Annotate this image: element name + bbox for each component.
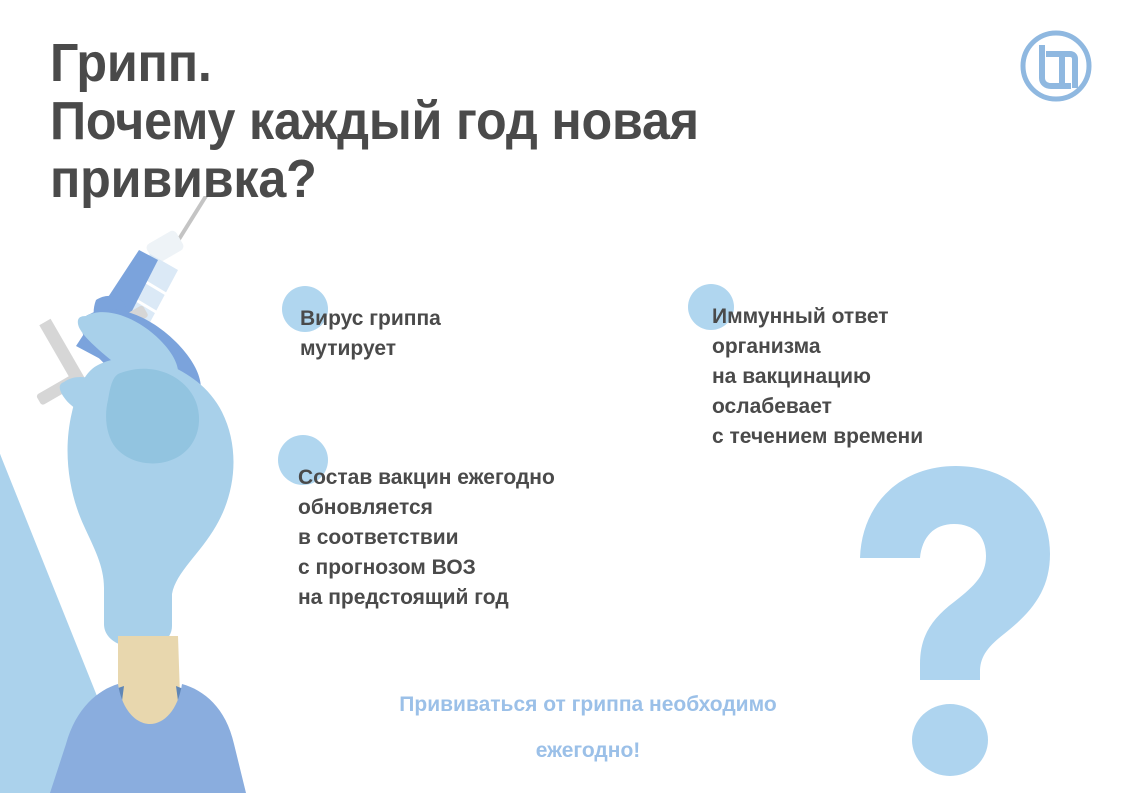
question-mark-hook (860, 466, 1050, 680)
bullet-text-virus: Вирус гриппа мутирует (282, 286, 441, 364)
title-line-1: Грипп. (50, 34, 868, 92)
title-line-2: Почему каждый год новая (50, 92, 868, 150)
footer-call-to-action: Прививаться от гриппа необходимо ежегодн… (258, 682, 918, 774)
gloved-hand-holding-syringe-illustration (0, 196, 300, 793)
bullet-item-immunity: Иммунный ответ организма на вакцинацию о… (688, 284, 923, 452)
bullet-item-virus: Вирус гриппа мутирует (282, 286, 441, 364)
bullet-text-composition: Состав вакцин ежегодно обновляется в соо… (278, 435, 555, 613)
page-title: Грипп. Почему каждый год новая прививка? (50, 34, 930, 208)
circular-monogram-logo-icon (1018, 28, 1094, 104)
bullet-text-immunity: Иммунный ответ организма на вакцинацию о… (688, 284, 923, 452)
question-mark-dot (912, 704, 988, 776)
poster-canvas: Грипп. Почему каждый год новая прививка?… (0, 0, 1122, 793)
title-line-3: прививка? (50, 150, 868, 208)
bullet-item-composition: Состав вакцин ежегодно обновляется в соо… (278, 435, 555, 613)
